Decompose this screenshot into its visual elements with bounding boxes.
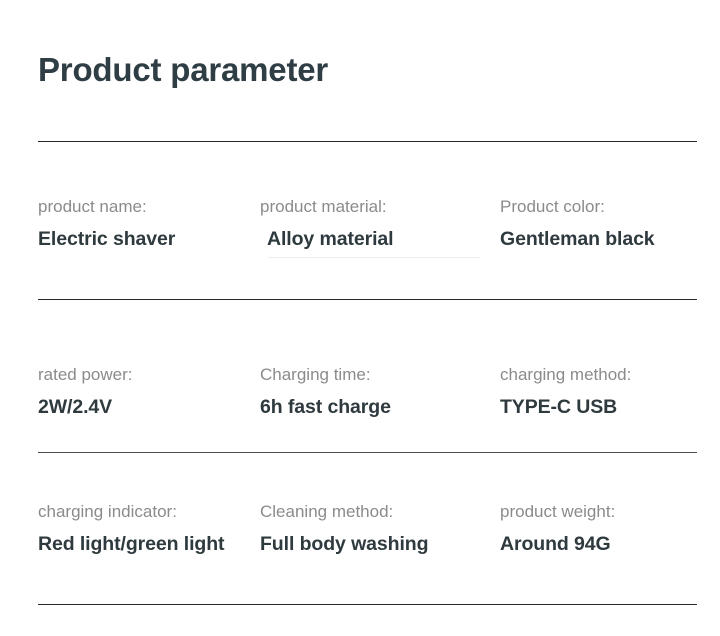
parameter-cell-product-color: Product color: Gentleman black [500, 196, 655, 252]
parameter-label: product material: [260, 196, 393, 218]
parameter-label: product name: [38, 196, 175, 218]
parameter-value: 6h fast charge [260, 394, 391, 420]
parameter-value: Alloy material [267, 226, 393, 252]
product-parameter-sheet: Product parameter product name: Electric… [0, 0, 720, 636]
parameter-label: charging indicator: [38, 501, 224, 523]
divider-top [38, 141, 697, 142]
divider-bottom [38, 604, 697, 605]
parameter-cell-product-material: product material: Alloy material [260, 196, 393, 252]
parameter-value: Electric shaver [38, 226, 175, 252]
divider-row-1 [38, 299, 697, 300]
parameter-row: charging indicator: Red light/green ligh… [0, 501, 720, 581]
parameter-cell-product-weight: product weight: Around 94G [500, 501, 615, 557]
parameter-value: Full body washing [260, 531, 428, 557]
divider-row-2 [38, 452, 697, 453]
parameter-label: Product color: [500, 196, 655, 218]
parameter-row: product name: Electric shaver product ma… [0, 196, 720, 276]
parameter-cell-cleaning-method: Cleaning method: Full body washing [260, 501, 428, 557]
parameter-cell-charging-time: Charging time: 6h fast charge [260, 364, 391, 420]
parameter-value: Red light/green light [38, 531, 224, 557]
parameter-cell-charging-indicator: charging indicator: Red light/green ligh… [38, 501, 224, 557]
parameter-label: rated power: [38, 364, 133, 386]
parameter-label: Cleaning method: [260, 501, 428, 523]
parameter-cell-charging-method: charging method: TYPE-C USB [500, 364, 631, 420]
parameter-row: rated power: 2W/2.4V Charging time: 6h f… [0, 364, 720, 444]
parameter-label: charging method: [500, 364, 631, 386]
parameter-cell-rated-power: rated power: 2W/2.4V [38, 364, 133, 420]
parameter-value: Gentleman black [500, 226, 655, 252]
parameter-value: 2W/2.4V [38, 394, 133, 420]
parameter-label: product weight: [500, 501, 615, 523]
parameter-value: TYPE-C USB [500, 394, 631, 420]
page-title: Product parameter [38, 48, 328, 92]
parameter-value: Around 94G [500, 531, 615, 557]
hairline-artifact [268, 257, 480, 258]
parameter-cell-product-name: product name: Electric shaver [38, 196, 175, 252]
parameter-label: Charging time: [260, 364, 391, 386]
